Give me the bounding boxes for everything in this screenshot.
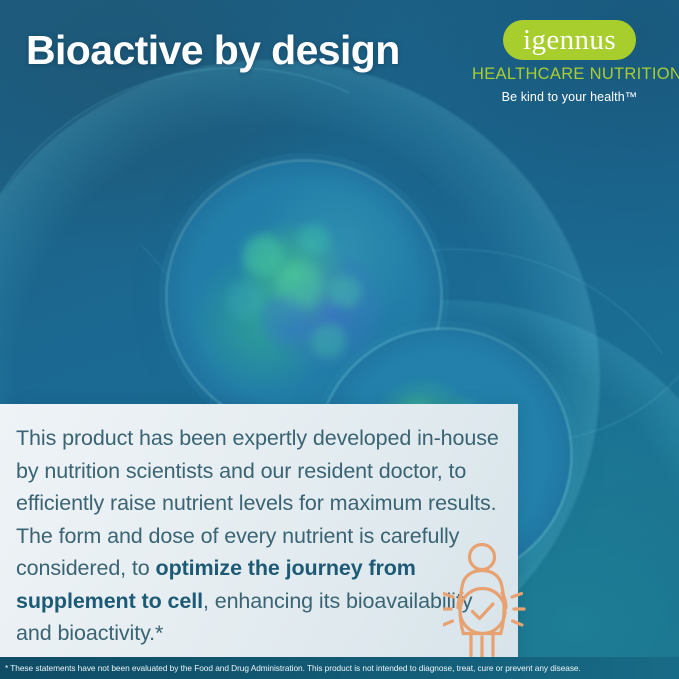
disclaimer-bar: * These statements have not been evaluat… [0,657,679,679]
disclaimer-text: * These statements have not been evaluat… [0,663,581,673]
promotional-banner: Bioactive by design igennus HEALTHCARE N… [0,0,679,679]
brand-logo[interactable]: igennus HEALTHCARE NUTRITION Be kind to … [472,20,667,104]
logo-tagline: Be kind to your health™ [472,90,667,104]
person-with-check-icon [443,543,535,661]
logo-subtitle: HEALTHCARE NUTRITION [472,65,667,84]
page-title: Bioactive by design [26,27,400,74]
description-paragraph: This product has been expertly developed… [16,422,502,650]
description-panel: This product has been expertly developed… [0,404,518,658]
logo-wordmark: igennus [503,20,636,60]
